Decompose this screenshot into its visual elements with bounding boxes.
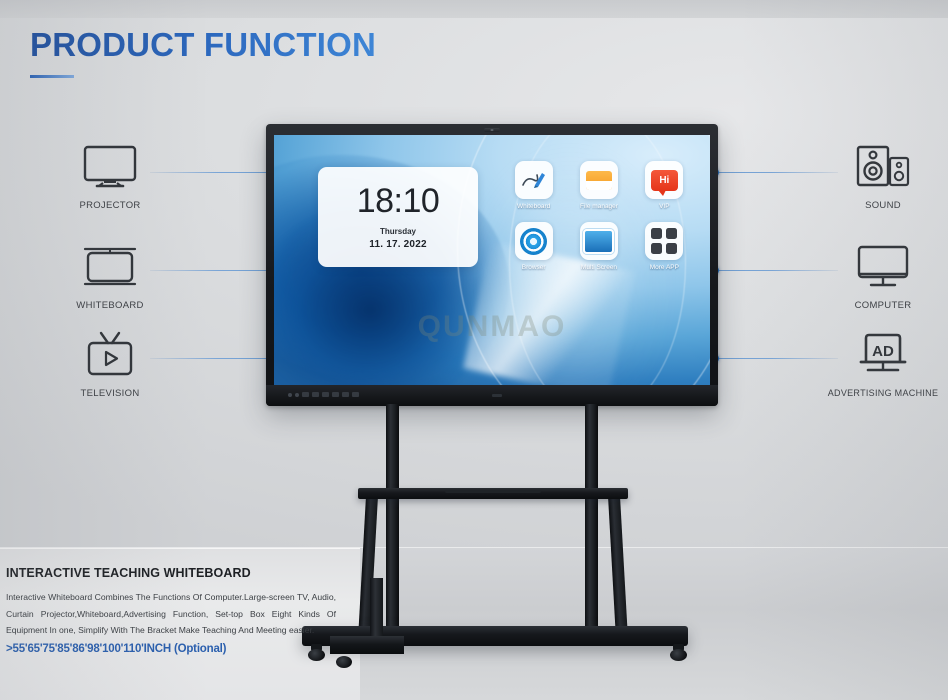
description-heading: INTERACTIVE TEACHING WHITEBOARD xyxy=(6,566,336,580)
callout-label: COMPUTER xyxy=(828,300,938,311)
app-multi-screen[interactable]: Multi Screen xyxy=(571,222,626,271)
description-block: INTERACTIVE TEACHING WHITEBOARD Interact… xyxy=(6,566,336,655)
app-whiteboard[interactable]: Whiteboard xyxy=(506,161,561,210)
top-bezel xyxy=(266,124,718,135)
description-body: Interactive Whiteboard Combines The Func… xyxy=(6,589,336,639)
callout-label: TELEVISION xyxy=(55,388,165,399)
clock-time: 18:10 xyxy=(357,184,440,218)
chat-bubble-icon: Hi xyxy=(645,161,683,199)
app-vip[interactable]: Hi VIP xyxy=(637,161,692,210)
app-label: File manager xyxy=(571,203,626,210)
page-header: PRODUCT FUNCTION xyxy=(30,28,376,78)
folder-icon xyxy=(580,161,618,199)
camera-icon xyxy=(484,128,500,132)
app-file-manager[interactable]: File manager xyxy=(571,161,626,210)
page-title: PRODUCT FUNCTION xyxy=(30,28,376,61)
ad-display-icon: AD xyxy=(813,328,948,382)
leader-line-sound xyxy=(718,172,838,173)
callout-advertising-machine[interactable]: AD ADVERTISING MACHINE xyxy=(813,328,948,398)
app-browser[interactable]: Browser xyxy=(506,222,561,271)
clock-widget[interactable]: 18:10 Thursday 11. 17. 2022 xyxy=(318,167,478,267)
callout-label: SOUND xyxy=(828,200,938,211)
app-label: Browser xyxy=(506,264,561,271)
product-function-slide: PRODUCT FUNCTION PROJECTOR WHITEBOARD xyxy=(0,0,948,700)
interactive-whiteboard-display: QUNMAO 18:10 Thursday 11. 17. 2022 White… xyxy=(266,124,718,406)
stand-shelf xyxy=(358,488,628,499)
callout-computer[interactable]: COMPUTER xyxy=(828,240,938,311)
chat-bubble-text: Hi xyxy=(651,170,678,191)
multi-screen-icon xyxy=(580,222,618,260)
monitor-icon xyxy=(828,240,938,294)
bottom-bezel xyxy=(266,385,718,406)
thumbnail-caster xyxy=(336,652,352,668)
screen-content: QUNMAO 18:10 Thursday 11. 17. 2022 White… xyxy=(274,135,710,385)
svg-text:AD: AD xyxy=(872,343,894,360)
app-label: Multi Screen xyxy=(571,264,626,271)
speaker-icon xyxy=(828,140,938,194)
callout-television[interactable]: TELEVISION xyxy=(55,328,165,399)
bezel-controls[interactable] xyxy=(288,392,359,397)
clock-date: 11. 17. 2022 xyxy=(369,239,426,250)
callout-projector[interactable]: PROJECTOR xyxy=(55,140,165,211)
background-top-band xyxy=(0,0,948,18)
thumbnail-post xyxy=(370,578,383,640)
leader-line-projector xyxy=(150,172,272,173)
stand-post-right xyxy=(585,404,598,632)
callout-label: ADVERTISING MACHINE xyxy=(813,388,948,398)
shelf-slot xyxy=(445,490,541,493)
callout-label: WHITEBOARD xyxy=(55,300,165,311)
caster-right xyxy=(670,644,687,661)
app-label: More APP xyxy=(637,264,692,271)
grid-apps-icon xyxy=(645,222,683,260)
stand-leg-right xyxy=(608,496,627,630)
leader-line-television xyxy=(150,358,272,359)
app-label: Whiteboard xyxy=(506,203,561,210)
app-label: VIP xyxy=(637,203,692,210)
app-more[interactable]: More APP xyxy=(637,222,692,271)
clock-weekday: Thursday xyxy=(380,227,416,236)
leader-line-computer xyxy=(718,270,838,271)
projector-icon xyxy=(55,140,165,194)
size-options: >55'65'75'85'86'98'100'110'INCH (Optiona… xyxy=(6,643,336,655)
stand-base-thumbnail xyxy=(330,578,404,698)
brand-watermark: QUNMAO xyxy=(418,310,567,344)
callout-label: PROJECTOR xyxy=(55,200,165,211)
leader-line-advertising xyxy=(718,358,838,359)
title-underline xyxy=(30,75,74,78)
app-grid: Whiteboard File manager Hi VIP xyxy=(506,161,692,271)
callout-sound[interactable]: SOUND xyxy=(828,140,938,211)
callout-whiteboard[interactable]: WHITEBOARD xyxy=(55,240,165,311)
ir-sensor-icon xyxy=(492,394,502,397)
whiteboard-icon xyxy=(55,240,165,294)
whiteboard-app-icon xyxy=(515,161,553,199)
browser-icon xyxy=(515,222,553,260)
leader-line-whiteboard xyxy=(150,270,272,271)
television-icon xyxy=(55,328,165,382)
